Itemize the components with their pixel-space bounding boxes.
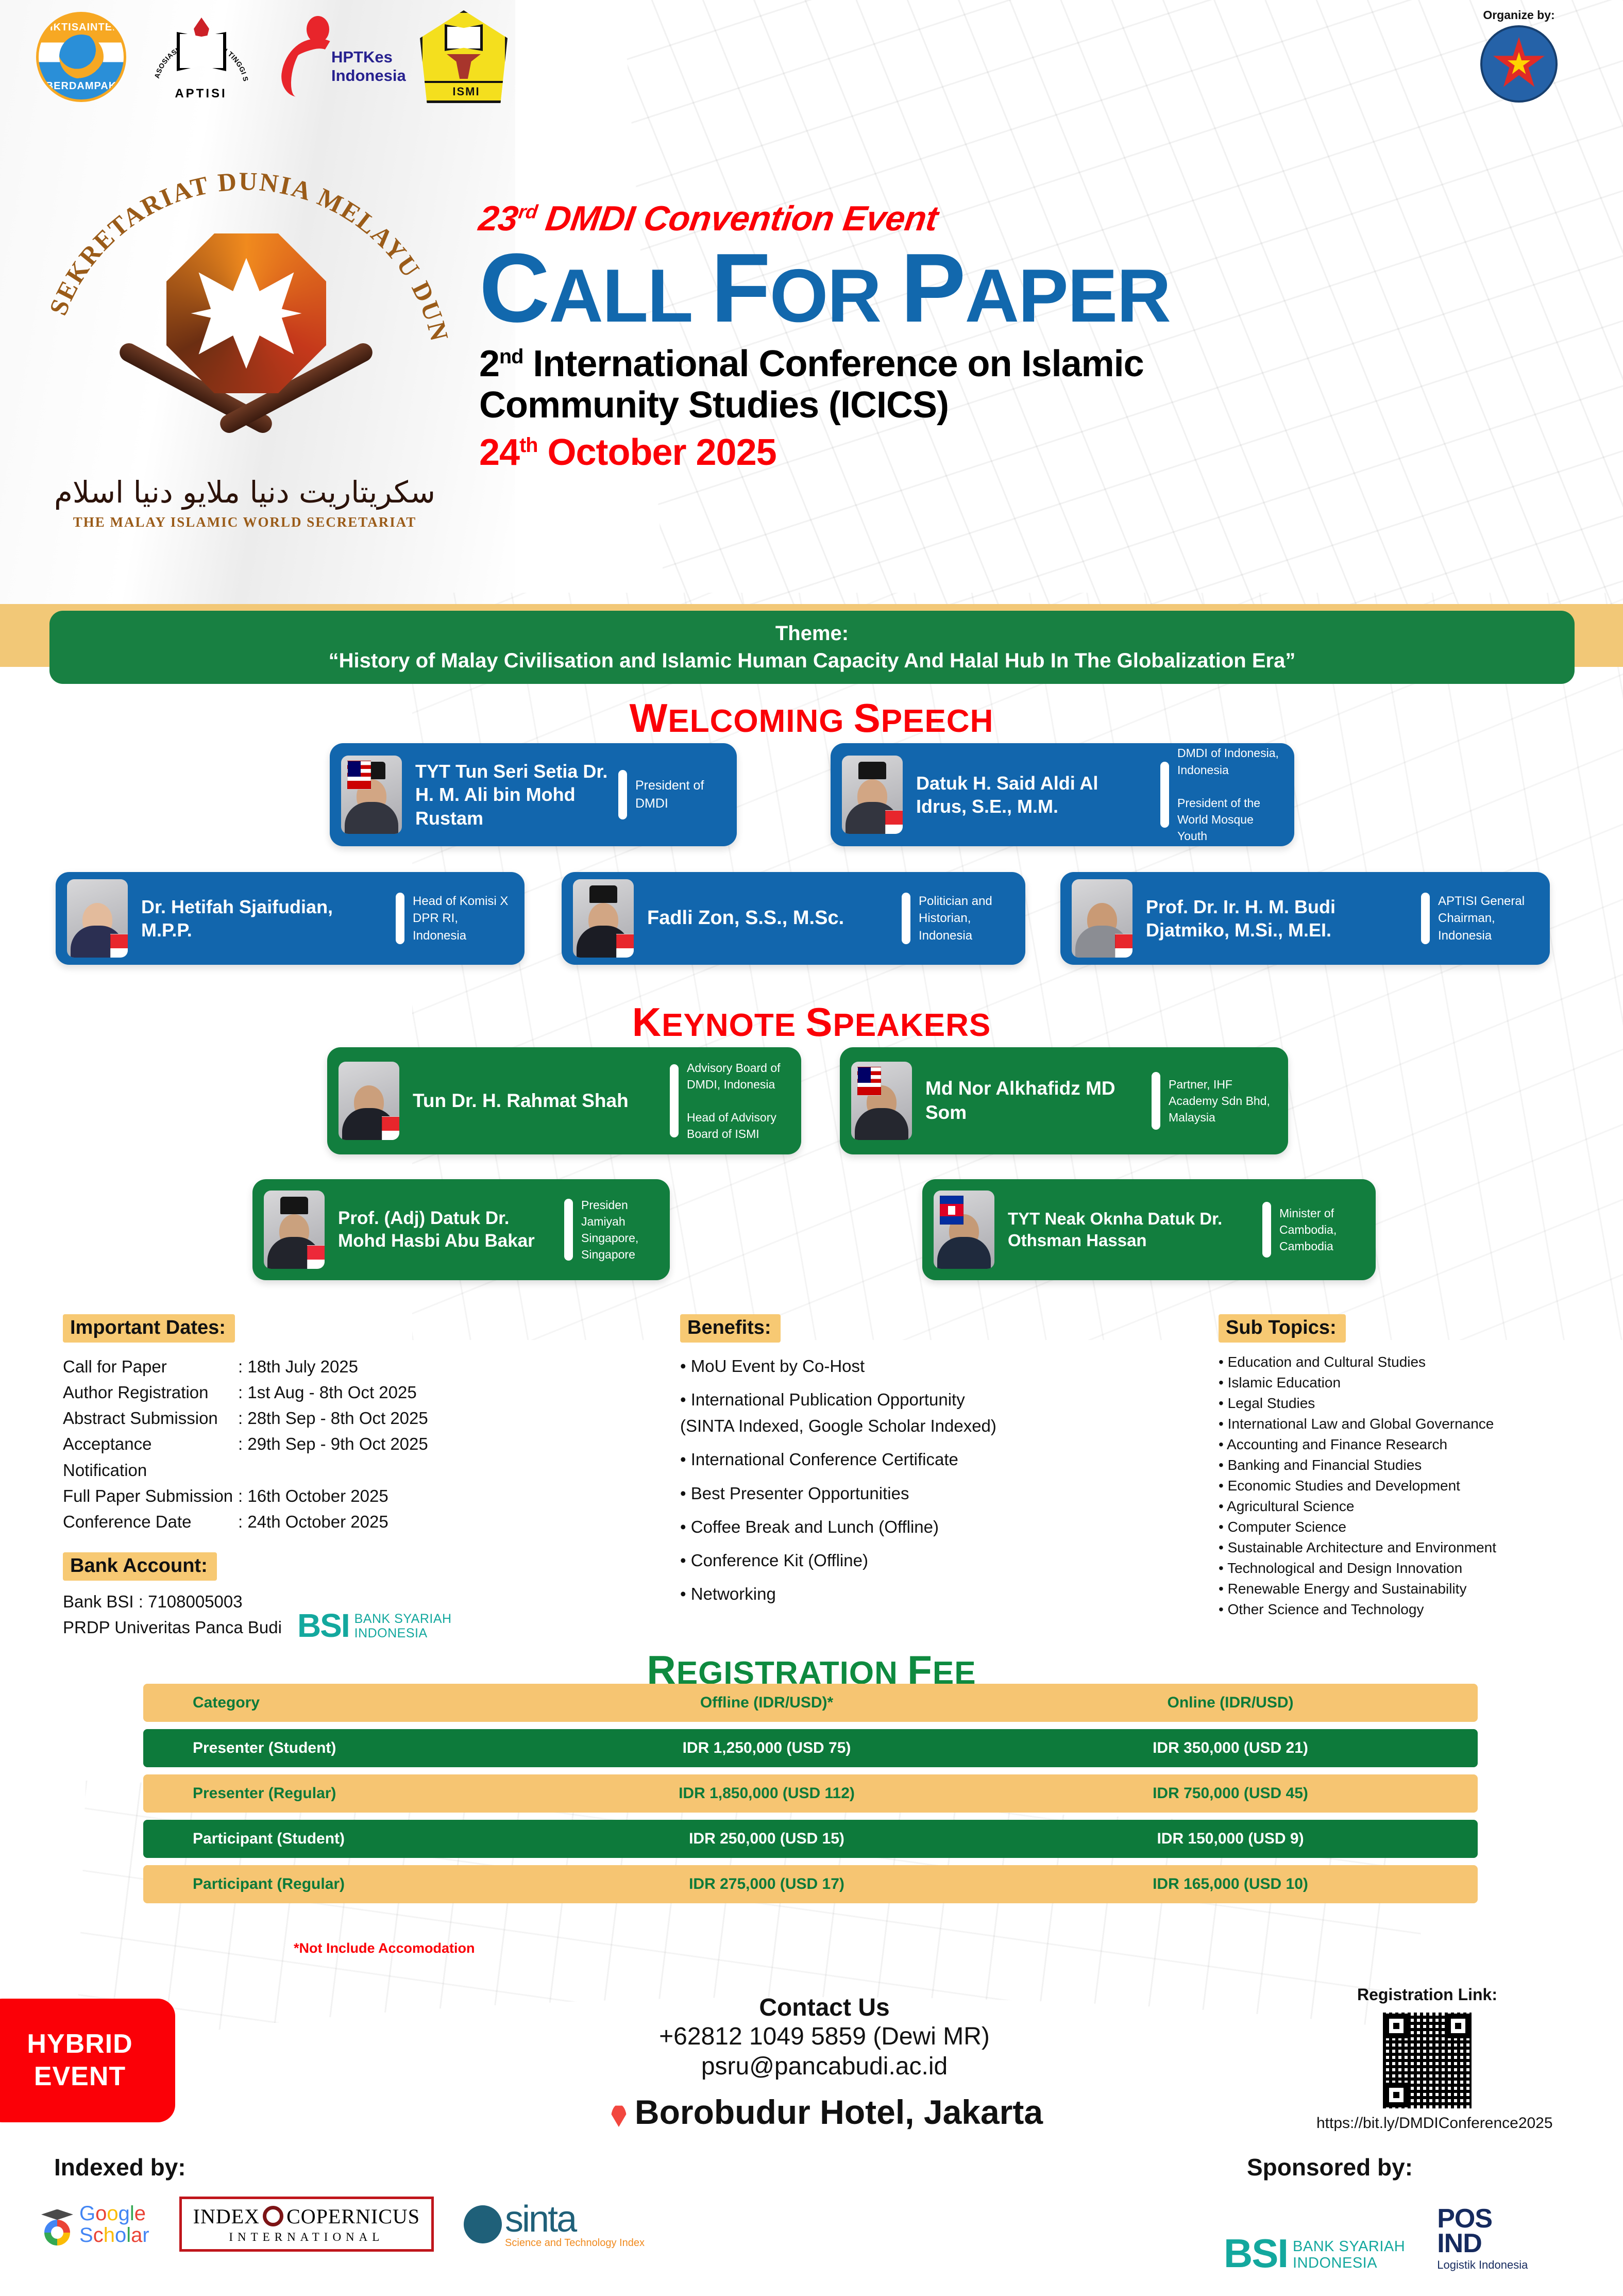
speaker-role: APTISI General Chairman, Indonesia <box>1438 893 1539 945</box>
benefit-item: MoU Event by Co-Host <box>680 1353 1175 1379</box>
ic-word3: INTERNATIONAL <box>193 2231 420 2244</box>
diktisaintek-logo: DIKTISAINTEK BERDAMPAK <box>36 12 126 102</box>
fee-online: IDR 750,000 (USD 45) <box>983 1785 1478 1802</box>
welcoming-speech-heading: WELCOMING SPEECH <box>0 695 1623 742</box>
subtopics-list: Education and Cultural Studies Islamic E… <box>1219 1352 1610 1620</box>
bsi-mark: BSI <box>1224 2235 1288 2271</box>
important-dates-title: Important Dates: <box>63 1314 235 1343</box>
date-label: Abstract Submission <box>63 1405 238 1431</box>
speaker-name: Datuk H. Said Aldi Al Idrus, S.E., M.M. <box>916 772 1152 818</box>
aptisi-logo: ASOSIASI PERGURUAN TINGGI SWASTA INDONES… <box>152 10 250 103</box>
convention-event-label: 23rd DMDI Convention Event <box>477 198 941 239</box>
speaker-role: DMDI of Indonesia, Indonesia President o… <box>1177 745 1283 844</box>
subtopic-item: International Law and Global Governance <box>1219 1414 1610 1434</box>
bsi-word2: INDONESIA <box>1293 2255 1405 2271</box>
benefits-title: Benefits: <box>680 1314 781 1343</box>
date-label: Call for Paper <box>63 1354 238 1380</box>
sponsored-by-block: Sponsored by: <box>1247 2153 1413 2181</box>
registration-url[interactable]: https://bit.ly/DMDIConference2025 <box>1316 2115 1538 2132</box>
ic-word1: INDEX <box>193 2205 260 2228</box>
theme-label: Theme: <box>70 622 1554 645</box>
posind-line2: IND <box>1437 2232 1528 2256</box>
indexed-by-block: Indexed by: <box>54 2153 186 2181</box>
date-value: : 16th October 2025 <box>238 1483 388 1509</box>
index-logos-row: Google Scholar INDEXCOPERNICUS INTERNATI… <box>41 2197 645 2252</box>
benefit-item: International Conference Certificate <box>680 1446 1175 1472</box>
bank-number: Bank BSI : 7108005003 <box>63 1589 282 1615</box>
registration-link-block: Registration Link: https://bit.ly/DMDICo… <box>1316 1985 1538 2132</box>
fee-online: IDR 350,000 (USD 21) <box>983 1739 1478 1757</box>
column-header-offline: Offline (IDR/USD)* <box>550 1694 983 1712</box>
ic-word2: COPERNICUS <box>286 2205 420 2228</box>
google-scholar-line2: Scholar <box>79 2224 149 2246</box>
conference-date: 24th October 2025 <box>479 431 1587 474</box>
aptisi-book-icon <box>177 32 226 71</box>
fee-offline: IDR 250,000 (USD 15) <box>550 1830 983 1848</box>
posind-line1: POS <box>1437 2207 1528 2232</box>
subtopic-item: Sustainable Architecture and Environment <box>1219 1537 1610 1558</box>
divider <box>1421 893 1430 944</box>
subtopic-item: Banking and Financial Studies <box>1219 1455 1610 1476</box>
subtopic-item: Renewable Energy and Sustainability <box>1219 1579 1610 1599</box>
date-value: : 18th July 2025 <box>238 1354 358 1380</box>
date-value: : 28th Sep - 8th Oct 2025 <box>238 1405 428 1431</box>
fee-online: IDR 165,000 (USD 10) <box>983 1875 1478 1893</box>
important-dates-block: Important Dates: Call for Paper: 18th Ju… <box>63 1314 640 1640</box>
divider <box>1262 1202 1271 1258</box>
flag-icon <box>382 1116 399 1140</box>
venue-text: Borobudur Hotel, Jakarta <box>402 2092 1252 2132</box>
conference-subtitle: 2nd International Conference on Islamic … <box>479 343 1587 426</box>
bsi-logo: BSI BANK SYARIAHINDONESIA <box>297 1611 452 1641</box>
avatar <box>1072 879 1132 958</box>
ismi-label: ISMI <box>415 81 517 103</box>
bsi-word1: BANK SYARIAH <box>1293 2238 1405 2255</box>
speaker-name: TYT Neak Oknha Datuk Dr. Othsman Hassan <box>1008 1208 1254 1251</box>
fee-offline: IDR 1,250,000 (USD 75) <box>550 1739 983 1757</box>
crest-arabic-text: سكريتاريت دنيا ملايو دنيا اسلام <box>39 475 451 510</box>
speaker-role: President of DMDI <box>635 777 725 813</box>
table-row: Participant (Student) IDR 250,000 (USD 1… <box>143 1820 1478 1858</box>
flag-icon <box>1115 934 1132 958</box>
bsi-word2: INDONESIA <box>354 1626 452 1640</box>
fee-category: Presenter (Regular) <box>143 1785 550 1802</box>
contact-title: Contact Us <box>464 1993 1185 2022</box>
keynote-card[interactable]: Prof. (Adj) Datuk Dr. Mohd Hasbi Abu Bak… <box>252 1179 670 1280</box>
speaker-name: Tun Dr. H. Rahmat Shah <box>413 1089 662 1113</box>
divider <box>564 1199 573 1261</box>
speaker-name: Md Nor Alkhafidz MD Som <box>925 1077 1143 1125</box>
flag-icon <box>110 934 128 958</box>
partner-logo-bar: DIKTISAINTEK BERDAMPAK ASOSIASI PERGURUA… <box>36 10 508 103</box>
organize-by-label: Organize by: <box>1452 8 1586 22</box>
speaker-name: Dr. Hetifah Sjaifudian, M.P.P. <box>141 895 387 942</box>
divider <box>1152 1072 1160 1130</box>
flag-icon <box>307 1245 325 1269</box>
speaker-card[interactable]: Prof. Dr. Ir. H. M. Budi Djatmiko, M.Si.… <box>1060 872 1550 965</box>
benefit-item: Coffee Break and Lunch (Offline) <box>680 1514 1175 1540</box>
sinta-logo: sinta Science and Technology Index <box>464 2201 645 2248</box>
date-row: Abstract Submission: 28th Sep - 8th Oct … <box>63 1405 640 1431</box>
speaker-card[interactable]: Dr. Hetifah Sjaifudian, M.P.P. Head of K… <box>56 872 525 965</box>
registration-link-title: Registration Link: <box>1316 1985 1538 2004</box>
divider <box>670 1064 679 1137</box>
ismi-logo: ISMI <box>420 10 508 103</box>
date-label: Full Paper Submission <box>63 1483 238 1509</box>
speaker-card[interactable]: Fadli Zon, S.S., M.Sc. Politician and Hi… <box>562 872 1025 965</box>
avatar <box>341 756 402 834</box>
flag-icon <box>347 761 371 790</box>
keynote-card[interactable]: Tun Dr. H. Rahmat Shah Advisory Board of… <box>327 1047 801 1154</box>
date-value: : 29th Sep - 9th Oct 2025 <box>238 1431 428 1483</box>
sponsor-logos-row: BSI BANK SYARIAHINDONESIA POS IND Logist… <box>1224 2207 1528 2272</box>
benefit-item: Best Presenter Opportunities <box>680 1480 1175 1506</box>
benefit-item: International Publication Opportunity (S… <box>680 1386 1175 1439</box>
bsi-sponsor-logo: BSI BANK SYARIAHINDONESIA <box>1224 2235 1405 2271</box>
subtopic-item: Economic Studies and Development <box>1219 1476 1610 1496</box>
google-scholar-line1: Google <box>79 2203 149 2224</box>
bank-holder: PRDP Univeritas Panca Budi <box>63 1615 282 1640</box>
speaker-name: TYT Tun Seri Setia Dr. H. M. Ali bin Moh… <box>415 760 610 830</box>
diktisaintek-core-icon <box>59 35 104 79</box>
date-label: Author Registration <box>63 1380 238 1405</box>
speaker-role: Politician and Historian, Indonesia <box>919 893 1014 945</box>
flag-icon <box>616 934 634 958</box>
date-value: : 1st Aug - 8th Oct 2025 <box>238 1380 417 1405</box>
divider <box>902 893 910 944</box>
column-header-category: Category <box>143 1694 550 1712</box>
avatar <box>842 756 903 834</box>
keynote-card[interactable]: TYT Neak Oknha Datuk Dr. Othsman Hassan … <box>922 1179 1376 1280</box>
theme-text: “History of Malay Civilisation and Islam… <box>70 649 1554 673</box>
keynote-speakers-heading: KEYNOTE SPEAKERS <box>0 999 1623 1046</box>
bank-account-details: Bank BSI : 7108005003 PRDP Univeritas Pa… <box>63 1589 282 1640</box>
date-label: Conference Date <box>63 1509 238 1535</box>
organizer-block: Organize by: <box>1452 8 1586 103</box>
subtopic-item: Accounting and Finance Research <box>1219 1434 1610 1455</box>
avatar <box>851 1062 912 1140</box>
date-label: Acceptance Notification <box>63 1431 238 1483</box>
aptisi-label: APTISI <box>152 87 250 101</box>
date-row: Author Registration: 1st Aug - 8th Oct 2… <box>63 1380 640 1405</box>
page-title: CALL FOR PAPER <box>479 242 1587 335</box>
speaker-role: Partner, IHF Academy Sdn Bhd, Malaysia <box>1169 1076 1277 1126</box>
speaker-role: Minister of Cambodia, Cambodia <box>1279 1205 1364 1255</box>
dmdi-secretariat-crest: SEKRETARIAT DUNIA MELAYU DUNIA ISLAM سكر… <box>39 173 451 539</box>
fee-online: IDR 150,000 (USD 9) <box>983 1830 1478 1848</box>
hybrid-line1: HYBRID <box>27 2028 132 2060</box>
fee-note: *Not Include Accomodation <box>294 1940 475 1956</box>
contact-email[interactable]: psru@pancabudi.ac.id <box>464 2052 1185 2082</box>
location-pin-icon <box>611 2104 627 2127</box>
benefit-item: Conference Kit (Offline) <box>680 1547 1175 1573</box>
globe-icon <box>263 2206 283 2226</box>
diktisaintek-bottom-text: BERDAMPAK <box>39 80 124 92</box>
avatar <box>67 879 128 958</box>
benefits-block: Benefits: MoU Event by Co-Host Internati… <box>680 1314 1175 1614</box>
fee-offline: IDR 1,850,000 (USD 112) <box>550 1785 983 1802</box>
fee-offline: IDR 275,000 (USD 17) <box>550 1875 983 1893</box>
theme-banner: Theme: “History of Malay Civilisation an… <box>49 611 1575 684</box>
flag-icon <box>857 1067 881 1096</box>
table-row: Presenter (Student) IDR 1,250,000 (USD 7… <box>143 1729 1478 1767</box>
subtopic-item: Technological and Design Innovation <box>1219 1558 1610 1579</box>
sinta-dome-icon <box>464 2205 502 2243</box>
hybrid-line2: EVENT <box>34 2060 126 2093</box>
subtopic-item: Agricultural Science <box>1219 1496 1610 1517</box>
column-header-online: Online (IDR/USD) <box>983 1694 1478 1712</box>
date-value: : 24th October 2025 <box>238 1509 388 1535</box>
sponsored-by-label: Sponsored by: <box>1247 2153 1413 2181</box>
flag-icon <box>940 1196 963 1225</box>
hptkes-logo: HPTKes Indonesia <box>276 12 394 102</box>
speaker-role: Presiden Jamiyah Singapore, Singapore <box>581 1197 658 1263</box>
speaker-name: Prof. Dr. Ir. H. M. Budi Djatmiko, M.Si.… <box>1146 895 1413 942</box>
keynote-card[interactable]: Md Nor Alkhafidz MD Som Partner, IHF Aca… <box>840 1047 1288 1154</box>
sinta-subtitle: Science and Technology Index <box>505 2238 645 2248</box>
crest-english-text: THE MALAY ISLAMIC WORLD SECRETARIAT <box>39 514 451 530</box>
fee-table-header: Category Offline (IDR/USD)* Online (IDR/… <box>143 1684 1478 1722</box>
subtopic-item: Computer Science <box>1219 1517 1610 1537</box>
divider <box>396 893 404 944</box>
subtopic-item: Legal Studies <box>1219 1393 1610 1414</box>
divider <box>1160 762 1169 828</box>
avatar <box>339 1062 399 1140</box>
fee-category: Presenter (Student) <box>143 1739 550 1757</box>
graduation-cap-icon <box>41 2208 73 2240</box>
table-row: Participant (Regular) IDR 275,000 (USD 1… <box>143 1865 1478 1903</box>
hybrid-event-badge: HYBRID EVENT <box>0 1999 175 2122</box>
posind-logo: POS IND Logistik Indonesia <box>1437 2207 1528 2272</box>
bsi-mark: BSI <box>297 1611 349 1641</box>
avatar <box>264 1191 325 1269</box>
contact-phone[interactable]: +62812 1049 5859 (Dewi MR) <box>464 2022 1185 2052</box>
qr-code-icon[interactable] <box>1382 2012 1473 2109</box>
avatar <box>934 1191 994 1269</box>
hptkes-line2: Indonesia <box>331 66 406 86</box>
date-row: Full Paper Submission: 16th October 2025 <box>63 1483 640 1509</box>
bank-account-block: Bank Account: Bank BSI : 7108005003 PRDP… <box>63 1552 640 1640</box>
contact-block: Contact Us +62812 1049 5859 (Dewi MR) ps… <box>464 1993 1185 2081</box>
avatar <box>573 879 634 958</box>
yayasan-logo <box>1480 25 1558 103</box>
bsi-word1: BANK SYARIAH <box>354 1612 452 1626</box>
subtopics-title: Sub Topics: <box>1219 1314 1346 1343</box>
benefits-list: MoU Event by Co-Host International Publi… <box>680 1353 1175 1607</box>
date-row: Call for Paper: 18th July 2025 <box>63 1354 640 1380</box>
flag-icon <box>885 810 903 834</box>
poster-page: DIKTISAINTEK BERDAMPAK ASOSIASI PERGURUA… <box>0 0 1623 2296</box>
speaker-card[interactable]: TYT Tun Seri Setia Dr. H. M. Ali bin Moh… <box>330 743 737 846</box>
indexed-by-label: Indexed by: <box>54 2153 186 2181</box>
date-row: Conference Date: 24th October 2025 <box>63 1509 640 1535</box>
speaker-name: Fadli Zon, S.S., M.Sc. <box>647 906 893 931</box>
google-scholar-logo: Google Scholar <box>41 2203 149 2246</box>
sinta-name: sinta <box>505 2201 645 2238</box>
fee-category: Participant (Regular) <box>143 1875 550 1893</box>
benefit-item: Networking <box>680 1581 1175 1607</box>
bank-account-title: Bank Account: <box>63 1552 217 1581</box>
divider <box>618 770 627 819</box>
fee-category: Participant (Student) <box>143 1830 550 1848</box>
date-row: Acceptance Notification: 29th Sep - 9th … <box>63 1431 640 1483</box>
ismi-book-icon <box>445 24 483 51</box>
diktisaintek-top-text: DIKTISAINTEK <box>39 22 124 33</box>
speaker-role: Advisory Board of DMDI, Indonesia Head o… <box>687 1060 790 1143</box>
speaker-role: Head of Komisi X DPR RI, Indonesia <box>413 893 513 945</box>
posind-line3: Logistik Indonesia <box>1437 2258 1528 2272</box>
subtopic-item: Islamic Education <box>1219 1372 1610 1393</box>
hptkes-line1: HPTKes <box>331 48 406 67</box>
title-block: 23rd DMDI Convention Event CALL FOR PAPE… <box>479 198 1587 474</box>
speaker-name: Prof. (Adj) Datuk Dr. Mohd Hasbi Abu Bak… <box>338 1207 556 1252</box>
crest-octagram-icon <box>166 233 326 393</box>
subtopics-block: Sub Topics: Education and Cultural Studi… <box>1219 1314 1610 1620</box>
ismi-emblem-icon <box>447 54 481 79</box>
index-copernicus-logo: INDEXCOPERNICUS INTERNATIONAL <box>179 2197 434 2252</box>
important-dates-list: Call for Paper: 18th July 2025 Author Re… <box>63 1354 640 1535</box>
subtopic-item: Education and Cultural Studies <box>1219 1352 1610 1372</box>
speaker-card[interactable]: Datuk H. Said Aldi Al Idrus, S.E., M.M. … <box>831 743 1294 846</box>
table-row: Presenter (Regular) IDR 1,850,000 (USD 1… <box>143 1774 1478 1813</box>
subtopic-item: Other Science and Technology <box>1219 1599 1610 1620</box>
